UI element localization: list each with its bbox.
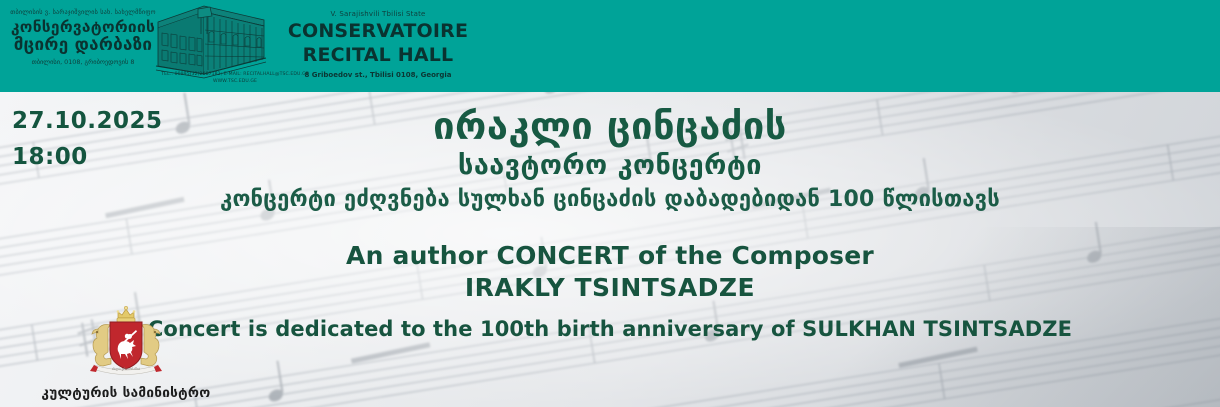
event-composer-english: IRAKLY TSINTSADZE (0, 274, 1220, 302)
ministry-logo-block: ძალა ერთობაშია კულტურის სამინისტრო (8, 305, 244, 401)
venue-contact-line1: TEL.: 00995(32)2987182; E-MAIL: RECITALH… (0, 72, 470, 79)
event-title-georgian: ირაკლი ცინცაძის (0, 106, 1220, 147)
event-titles: ირაკლი ცინცაძის საავტორო კონცერტი კონცერ… (0, 92, 1220, 341)
venue-contact-line2: WWW.TSC.EDU.GE (0, 79, 470, 86)
venue-title-georgian-line1: კონსერვატორიის (8, 19, 158, 36)
venue-name-georgian: თბილისის ვ. სარაჯიშვილის სახ. სახელმწიფო… (8, 10, 158, 66)
conservatoire-building-icon (152, 0, 270, 80)
venue-org-english: V. Sarajishvili Tbilisi State (278, 10, 478, 18)
svg-text:ძალა ერთობაშია: ძალა ერთობაშია (112, 367, 141, 371)
venue-name-english: V. Sarajishvili Tbilisi State CONSERVATO… (278, 10, 478, 79)
venue-org-georgian: თბილისის ვ. სარაჯიშვილის სახ. სახელმწიფო (8, 10, 158, 17)
event-dedication-georgian: კონცერტი ეძღვნება სულხან ცინცაძის დაბადე… (0, 188, 1220, 212)
venue-address-georgian: თბილისი, 0108, გრიბოედოვის 8 (8, 58, 158, 66)
venue-contact-info: TEL.: 00995(32)2987182; E-MAIL: RECITALH… (0, 72, 470, 86)
venue-title-english-line2: RECITAL HALL (278, 45, 478, 66)
ministry-label: კულტურის სამინისტრო (8, 385, 244, 401)
venue-title-georgian-line2: მცირე დარბაზი (8, 36, 158, 55)
concert-poster: თბილისის ვ. სარაჯიშვილის სახ. სახელმწიფო… (0, 0, 1220, 407)
georgia-coat-of-arms-icon: ძალა ერთობაშია (80, 305, 172, 383)
poster-body: 27.10.2025 18:00 ირაკლი ცინცაძის საავტორ… (0, 92, 1220, 407)
venue-title-english-line1: CONSERVATOIRE (278, 21, 478, 42)
event-subtitle-georgian: საავტორო კონცერტი (0, 151, 1220, 181)
venue-header-banner: თბილისის ვ. სარაჯიშვილის სახ. სახელმწიფო… (0, 0, 1220, 92)
event-title-english: An author CONCERT of the Composer (0, 242, 1220, 270)
